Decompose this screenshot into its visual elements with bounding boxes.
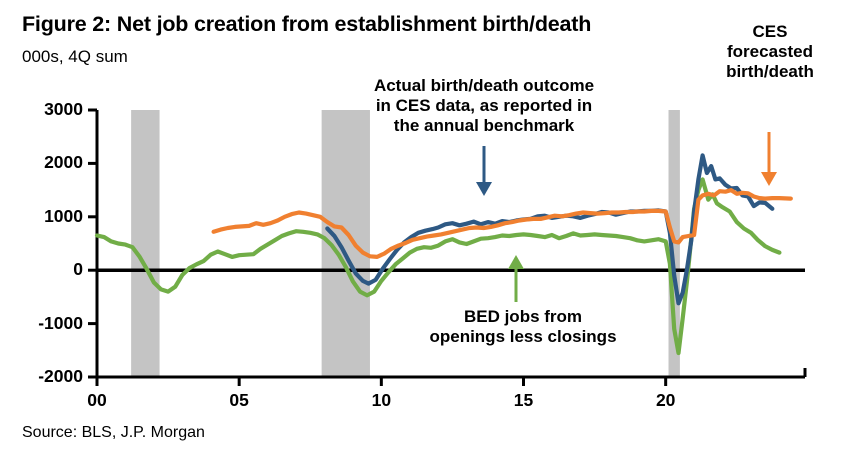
x-tick-label: 05 — [216, 390, 262, 411]
annotation-ces-actual: Actual birth/death outcome in CES data, … — [339, 76, 629, 136]
arrow-head — [508, 255, 524, 269]
y-tick-label: 3000 — [3, 99, 83, 120]
y-tick-label: -2000 — [3, 366, 83, 387]
series-line — [214, 190, 791, 257]
figure-container: Figure 2: Net job creation from establis… — [0, 0, 852, 459]
recession-band — [131, 110, 159, 377]
x-tick-label: 10 — [358, 390, 404, 411]
y-tick-label: 1000 — [3, 206, 83, 227]
x-tick-label: 00 — [74, 390, 120, 411]
source-note: Source: BLS, J.P. Morgan — [22, 424, 205, 442]
y-tick-label: 2000 — [3, 152, 83, 173]
series-line — [327, 155, 772, 303]
annotation-bed: BED jobs from openings less closings — [398, 307, 648, 347]
y-tick-label: 0 — [3, 259, 83, 280]
y-tick-label: -1000 — [3, 313, 83, 334]
x-tick-label: 20 — [643, 390, 689, 411]
x-tick-label: 15 — [501, 390, 547, 411]
arrow-head — [761, 172, 777, 186]
annotation-ces-forecast: CES forecasted birth/death — [700, 22, 840, 82]
arrow-head — [476, 182, 492, 196]
